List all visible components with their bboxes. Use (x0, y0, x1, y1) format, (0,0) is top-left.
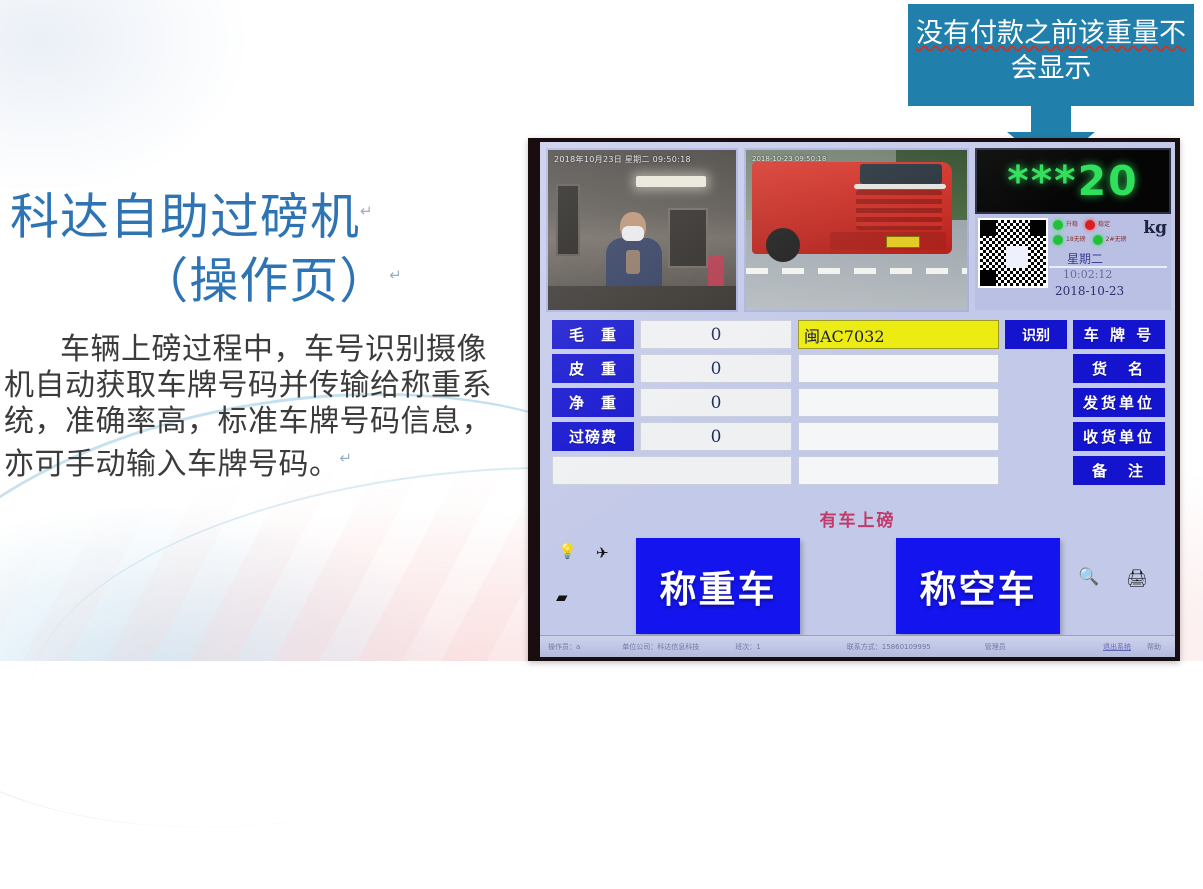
indicator-label-2: 稳定 (1098, 221, 1110, 229)
monitor-photo: 2018年10月23日 星期二 09:50:18 2018-10-23 09:5… (528, 138, 1180, 661)
form-row-gross-weight: 毛 重 0 闽AC7032 识别 车 牌 号 (552, 320, 1165, 349)
truck-camera-feed: 2018-10-23 09:50:18 (744, 148, 969, 312)
slide-paragraph-text: 车辆上磅过程中，车号识别摄像机自动获取车牌号码并传输给称重系统，准确率高，标准车… (4, 332, 492, 482)
truck-brand-bar (854, 184, 946, 189)
lamp-icon[interactable]: 💡 (558, 544, 577, 559)
plate-number-value: 闽AC7032 (804, 323, 885, 347)
led-info-panel: 升稳 稳定 18无磅 2#无磅 kg 星期二 (975, 214, 1171, 310)
action-button-area: 💡 ✈ ▰ 称重车 称空车 🔍 🖨 (540, 534, 1175, 644)
indicator-dot-green-1 (1053, 220, 1063, 230)
driver-camera-feed: 2018年10月23日 星期二 09:50:18 (546, 148, 738, 312)
indicator-dot-green-2 (1053, 235, 1063, 245)
indicator-dot-red (1085, 220, 1095, 230)
label-shipper: 发货单位 (1073, 388, 1165, 417)
value-net-weight[interactable]: 0 (640, 388, 792, 417)
lane-marking (746, 268, 967, 274)
paragraph-mark-title2: ↵ (389, 266, 403, 284)
page-title-line2: （操作页） (139, 253, 389, 310)
qr-code (978, 218, 1048, 288)
clock-date: 2018-10-23 (1055, 284, 1124, 298)
paragraph-mark-body: ↵ (340, 449, 353, 467)
input-consignee[interactable] (798, 422, 999, 451)
spacer-row2 (1005, 354, 1067, 383)
indicator-label-3: 18无磅 (1066, 236, 1086, 244)
indicator-label-1: 升稳 (1066, 221, 1078, 229)
callout-box: 没有付款之前该重量不 会显示 (908, 4, 1194, 106)
label-gross-weight: 毛 重 (552, 320, 634, 349)
weigh-empty-button[interactable]: 称空车 (896, 538, 1060, 634)
label-goods-name: 货 名 (1073, 354, 1165, 383)
label-plate-number: 车 牌 号 (1073, 320, 1165, 349)
indicator-dot-green-3 (1093, 235, 1103, 245)
plane-icon[interactable]: ✈ (596, 546, 609, 561)
page-title: 科达自助过磅机↵ （操作页）↵ (10, 182, 510, 311)
status-bar-exit-link[interactable]: 退出系统 (1103, 642, 1131, 652)
label-weighing-fee: 过磅费 (552, 422, 634, 451)
callout-annotation: 没有付款之前该重量不 会显示 (908, 4, 1194, 106)
led-display: ***20 (975, 148, 1171, 214)
driver-phone (626, 250, 640, 274)
value-weighing-fee[interactable]: 0 (640, 422, 792, 451)
weighbridge-app-screen: 2018年10月23日 星期二 09:50:18 2018-10-23 09:5… (540, 142, 1175, 657)
label-tare-weight: 皮 重 (552, 354, 634, 383)
input-remark[interactable] (798, 456, 999, 485)
status-bar-contact: 联系方式：15860109995 (847, 642, 931, 652)
wall-frame (556, 184, 580, 256)
search-icon[interactable]: 🔍 (1078, 568, 1099, 585)
slide-paragraph: 车辆上磅过程中，车号识别摄像机自动获取车牌号码并传输给称重系统，准确率高，标准车… (4, 332, 510, 483)
driver-camera-timestamp: 2018年10月23日 星期二 09:50:18 (554, 154, 691, 165)
status-bar-shift: 班次：1 (735, 642, 760, 652)
qr-code-center (1006, 246, 1028, 268)
slide-text-column: 科达自助过磅机↵ （操作页）↵ 车辆上磅过程中，车号识别摄像机自动获取车牌号码并… (0, 0, 520, 661)
desk-surface (548, 286, 736, 310)
label-net-weight: 净 重 (552, 388, 634, 417)
spacer-row5 (1005, 456, 1067, 485)
label-remark: 备 注 (1073, 456, 1165, 485)
truck-license-plate (886, 236, 920, 248)
form-row-remark: 备 注 (552, 456, 1165, 485)
status-bar-admin: 管理员 (985, 642, 1006, 652)
paragraph-mark-title: ↵ (360, 202, 374, 220)
input-plate-number[interactable]: 闽AC7032 (798, 320, 999, 349)
label-consignee: 收货单位 (1073, 422, 1165, 451)
callout-text-line2: 会显示 (914, 51, 1188, 86)
weigh-loaded-button[interactable]: 称重车 (636, 538, 800, 634)
indicator-label-4: 2#无磅 (1106, 236, 1127, 244)
value-tare-weight[interactable]: 0 (640, 354, 792, 383)
camera-and-display-row: 2018年10月23日 星期二 09:50:18 2018-10-23 09:5… (546, 148, 1171, 312)
input-shipper[interactable] (798, 388, 999, 417)
form-row-weighing-fee: 过磅费 0 收货单位 (552, 422, 1165, 451)
status-bar-help[interactable]: 帮助 (1147, 642, 1161, 652)
value-remark-left[interactable] (552, 456, 792, 485)
led-weight-panel: ***20 升稳 稳定 (975, 148, 1171, 312)
driver-mask (622, 226, 644, 241)
form-row-tare-weight: 皮 重 0 货 名 (552, 354, 1165, 383)
form-row-net-weight: 净 重 0 发货单位 (552, 388, 1165, 417)
clock-time: 10:02:12 (1063, 268, 1112, 281)
ceiling-lamp (636, 176, 706, 187)
printer-icon[interactable]: 🖨 (1126, 570, 1148, 587)
print-icon[interactable]: ▰ (556, 590, 568, 605)
page-title-line1: 科达自助过磅机 (10, 188, 360, 245)
spacer-row3 (1005, 388, 1067, 417)
truck-grille (856, 190, 942, 230)
weekday-label: 星期二 (1067, 250, 1103, 267)
status-badge: 有车上磅 (540, 506, 1175, 531)
truck-wheel (766, 228, 800, 262)
status-bar: 操作员：a 单位公司：科达信息科技 班次：1 联系方式：15860109995 … (540, 635, 1175, 657)
status-bar-operator: 操作员：a (548, 642, 580, 652)
weight-unit-label: kg (1143, 218, 1167, 238)
truck-windshield (860, 164, 942, 184)
led-weight-value: ***20 (1007, 159, 1138, 203)
spacer-row4 (1005, 422, 1067, 451)
input-goods-name[interactable] (798, 354, 999, 383)
callout-text-line1: 没有付款之前该重量不 (914, 16, 1188, 51)
recognize-button[interactable]: 识别 (1005, 320, 1067, 349)
status-bar-company: 单位公司：科达信息科技 (622, 642, 699, 652)
truck-camera-timestamp: 2018-10-23 09:50:18 (752, 154, 826, 164)
bottle-object (708, 256, 724, 288)
cabinet (668, 208, 708, 268)
value-gross-weight[interactable]: 0 (640, 320, 792, 349)
weighing-form: 毛 重 0 闽AC7032 识别 车 牌 号 皮 重 0 货 名 净 重 0 (552, 320, 1165, 490)
